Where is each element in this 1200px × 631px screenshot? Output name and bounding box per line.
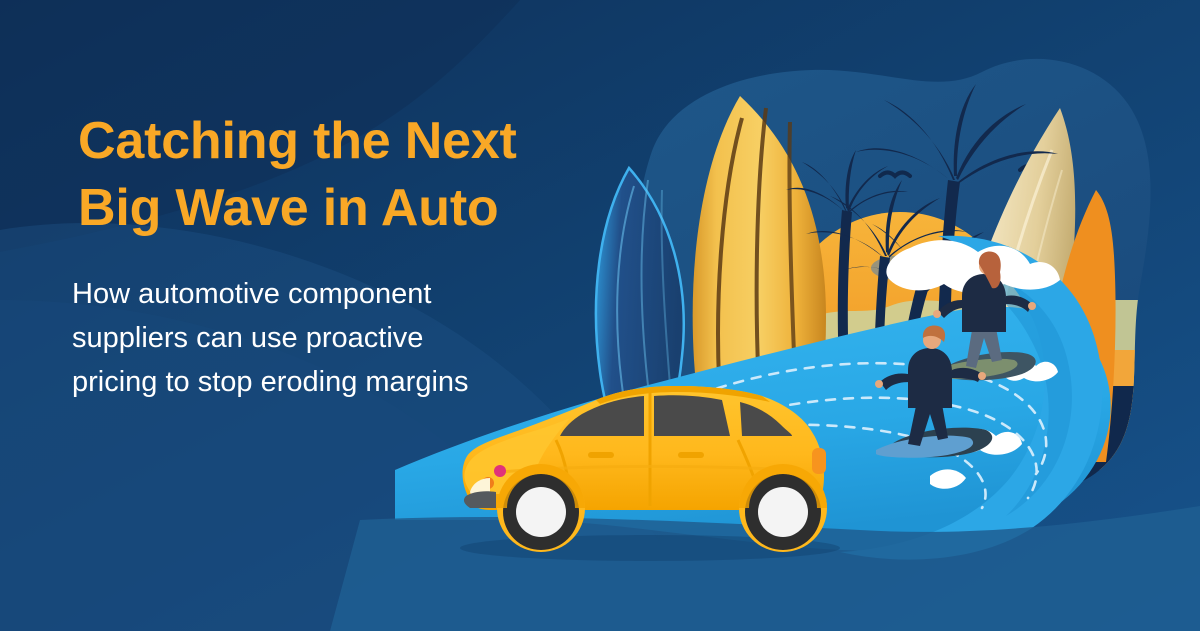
car-handle-front (588, 452, 614, 458)
car-tail-light (812, 448, 826, 474)
car-handle-rear (678, 452, 704, 458)
man-hand-right (978, 372, 986, 380)
car-headlight-pink (494, 465, 506, 477)
woman-hand-right (1028, 302, 1036, 310)
hero-illustration (0, 0, 1200, 631)
man-torso (908, 348, 952, 408)
woman-hand-left (933, 310, 941, 318)
hero-banner: Catching the Next Big Wave in Auto How a… (0, 0, 1200, 631)
car-window-rear-door (654, 395, 730, 436)
man-hand-left (875, 380, 883, 388)
